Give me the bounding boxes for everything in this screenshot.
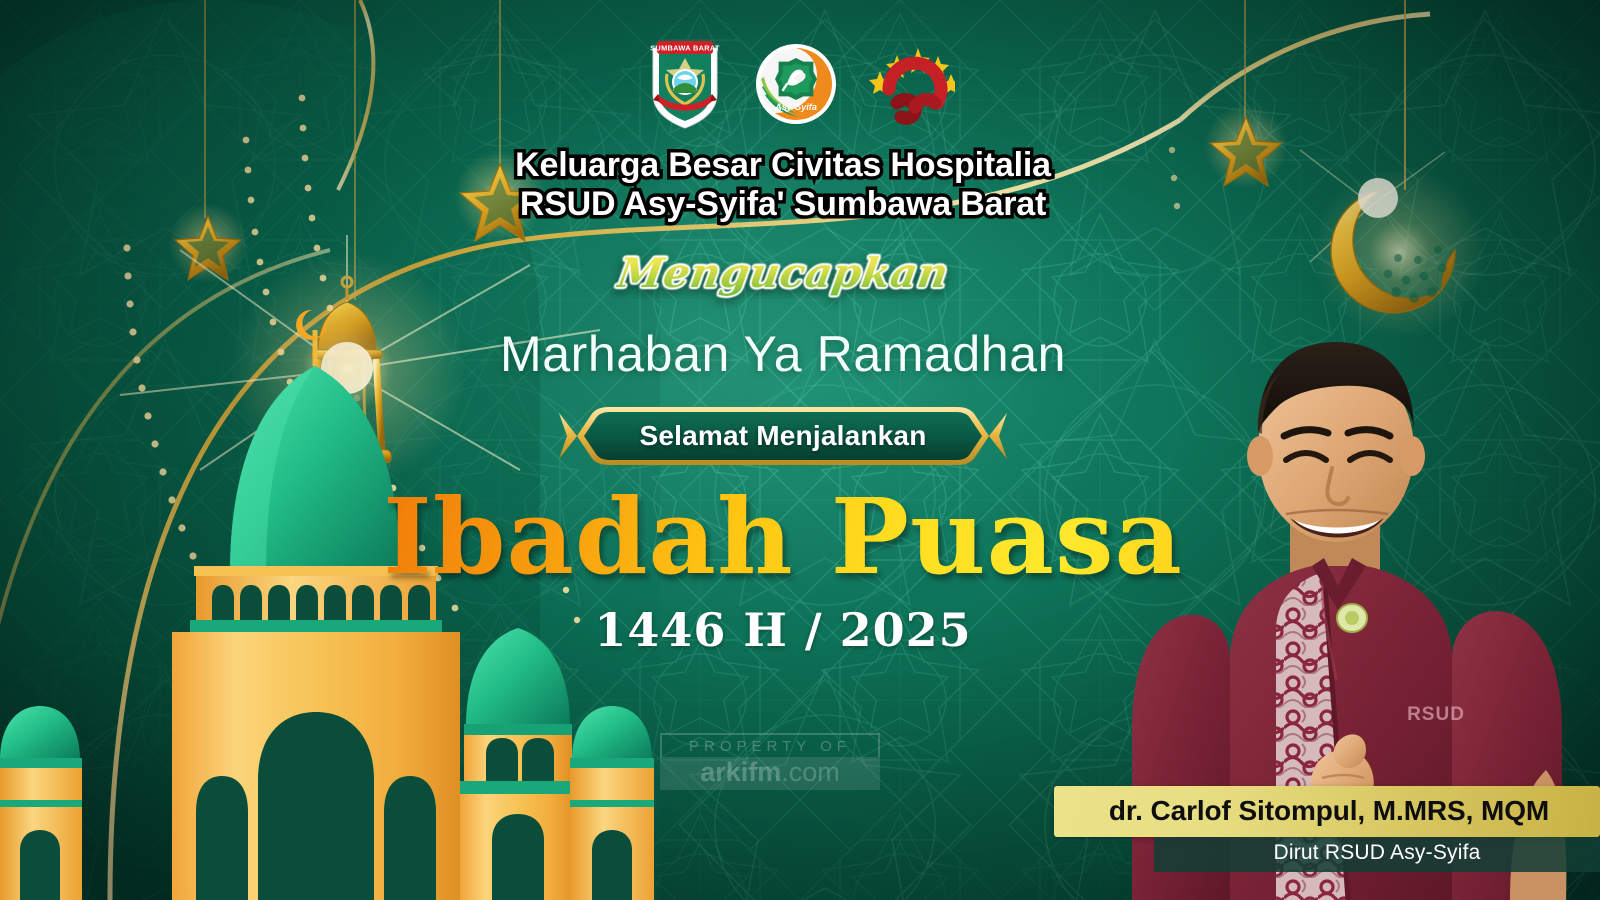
director-role: Dirut RSUD Asy-Syifa <box>1154 837 1600 872</box>
ramadhan-greeting-poster: SUMBAWA BARAT Asy-Syifa <box>0 0 1600 900</box>
mengucapkan-script: Mengucapkan <box>614 249 952 297</box>
org-title: Keluarga Besar Civitas Hospitalia RSUD A… <box>515 146 1051 225</box>
headline-ibadah-puasa: Ibadah Puasa <box>383 485 1183 589</box>
watermark-brand-tld: .com <box>781 757 840 787</box>
watermark: PROPERTY OF arkifm.com <box>660 733 880 790</box>
watermark-brand-name: arkifm <box>700 757 781 787</box>
nameplate: dr. Carlof Sitompul, M.MRS, MQM Dirut RS… <box>1040 786 1600 872</box>
watermark-brand: arkifm.com <box>660 757 880 790</box>
director-name: dr. Carlof Sitompul, M.MRS, MQM <box>1054 786 1600 837</box>
watermark-property-of: PROPERTY OF <box>660 733 880 757</box>
ribbon-banner: Selamat Menjalankan <box>557 405 1009 467</box>
hijri-gregorian-year: 1446 H / 2025 <box>594 603 971 657</box>
ribbon-label: Selamat Menjalankan <box>639 420 926 452</box>
svg-text:RSUD: RSUD <box>1407 704 1465 725</box>
marhaban-ya-ramadhan: Marhaban Ya Ramadhan <box>500 325 1066 383</box>
